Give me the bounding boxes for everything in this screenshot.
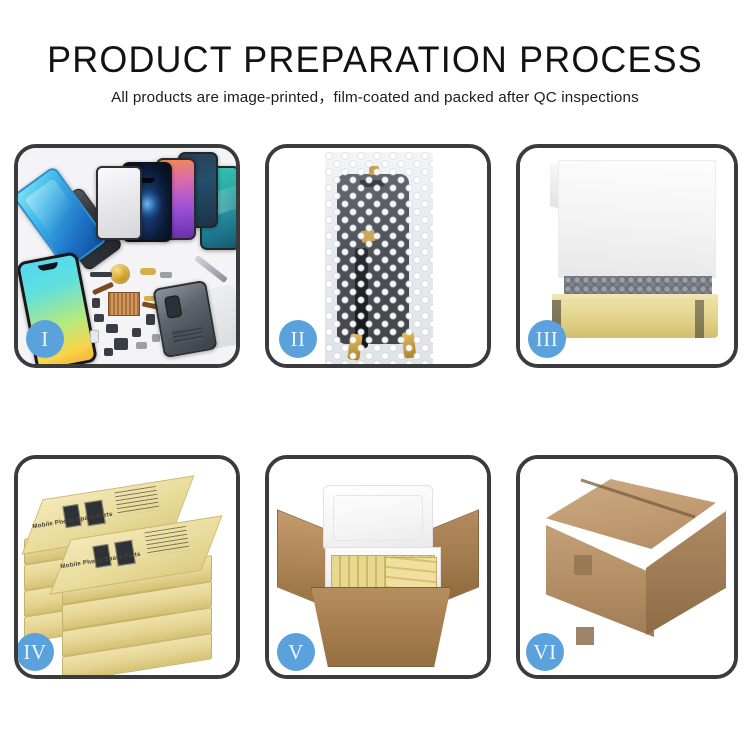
step-6-illustration: VI bbox=[520, 459, 734, 675]
spare-part-icon bbox=[104, 348, 113, 356]
step-1-illustration: I bbox=[18, 148, 236, 364]
step-panel-2: II bbox=[265, 144, 491, 368]
page-subtitle: All products are image-printed，film-coat… bbox=[0, 88, 750, 108]
speaker-coil-icon bbox=[110, 264, 130, 284]
bubble-wrap-sleeve-icon bbox=[325, 152, 433, 366]
step-badge-5: V bbox=[277, 633, 315, 671]
spare-part-icon bbox=[106, 324, 118, 333]
spare-part-icon bbox=[140, 268, 156, 275]
step-badge-6: VI bbox=[526, 633, 564, 671]
logic-board-chip-icon bbox=[108, 292, 140, 316]
step-4-illustration: Mobile Phone Spare Parts Mobile Phone Sp… bbox=[18, 459, 236, 675]
outer-carton-icon bbox=[311, 587, 451, 667]
step-panel-5: V bbox=[265, 455, 491, 679]
box-lid-icon bbox=[558, 160, 716, 278]
step-panel-6: VI bbox=[516, 455, 738, 679]
step-badge-2: II bbox=[279, 320, 317, 358]
step-panel-1: I bbox=[14, 144, 240, 368]
spare-part-icon bbox=[90, 272, 112, 277]
box-base-front-icon bbox=[552, 302, 718, 338]
header: PRODUCT PREPARATION PROCESS All products… bbox=[0, 0, 750, 108]
page-title: PRODUCT PREPARATION PROCESS bbox=[11, 38, 739, 82]
spare-part-icon bbox=[152, 334, 160, 342]
step-panel-3: III bbox=[516, 144, 738, 368]
spare-part-icon bbox=[90, 330, 99, 343]
step-badge-1: I bbox=[26, 320, 64, 358]
box-edge-right-icon bbox=[695, 300, 704, 338]
display-glass-panel-icon bbox=[96, 166, 142, 240]
product-preparation-infographic: PRODUCT PREPARATION PROCESS All products… bbox=[0, 0, 750, 750]
step-2-illustration: II bbox=[269, 148, 487, 364]
spare-part-icon bbox=[136, 342, 147, 349]
step-3-illustration: III bbox=[520, 148, 734, 364]
steps-grid: I II bbox=[12, 142, 738, 682]
spare-part-icon bbox=[146, 314, 155, 325]
spare-part-icon bbox=[94, 314, 104, 322]
step-panel-4: Mobile Phone Spare Parts Mobile Phone Sp… bbox=[14, 455, 240, 679]
step-badge-3: III bbox=[528, 320, 566, 358]
spare-part-icon bbox=[92, 298, 100, 308]
styrofoam-lid-icon bbox=[323, 485, 433, 551]
step-badge-4: IV bbox=[16, 633, 54, 671]
carton-tape-icon bbox=[576, 627, 594, 645]
carton-tape-icon bbox=[574, 555, 592, 575]
bubble-texture-icon bbox=[325, 152, 433, 366]
spare-part-icon bbox=[114, 338, 128, 350]
spare-part-icon bbox=[132, 328, 141, 337]
spare-part-icon bbox=[160, 272, 172, 278]
step-5-illustration: V bbox=[269, 459, 487, 675]
